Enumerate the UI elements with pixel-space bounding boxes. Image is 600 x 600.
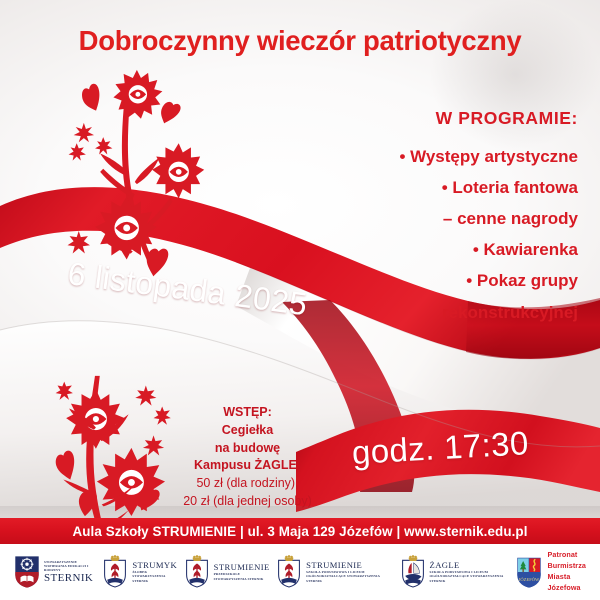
svg-text:JÓZEFÓW: JÓZEFÓW — [519, 577, 540, 582]
program-item: • Kawiarenka — [328, 238, 578, 261]
logo-sternik-name: STERNIK — [44, 573, 96, 585]
admission-price-family: 50 zł (dla rodziny), — [160, 475, 335, 493]
program-item: • Loteria fantowa — [328, 176, 578, 199]
strumyk-crest-icon — [102, 555, 128, 589]
admission-price-single: 20 zł (dla jednej osoby) — [160, 493, 335, 511]
logo-strumyk[interactable]: STRUMYK ŻŁOBEK STOWARZYSZENIA STERNIK — [102, 555, 177, 589]
footer-text: Aula Szkoły STRUMIENIE | ul. 3 Maja 129 … — [72, 524, 527, 539]
strumienie-szkola-crest-icon — [276, 555, 302, 589]
admission-section: WSTĘP: Cegiełka na budowę Kampusu ŻAGLE:… — [160, 404, 335, 511]
logo-sternik[interactable]: STOWARZYSZENIE WSPIERANIA EDUKACJI I ROD… — [14, 555, 96, 589]
logo-strumienie-przedszkole[interactable]: STRUMIENIE PRZEDSZKOLE STOWARZYSZENIA ST… — [184, 555, 270, 589]
patronage-block[interactable]: JÓZEFÓW Patronat Burmistrza Miasta Józef… — [516, 550, 586, 593]
logo-strumienie-name: STRUMIENIE — [214, 563, 270, 572]
jozefow-coat-of-arms-icon: JÓZEFÓW — [516, 555, 542, 589]
sternik-crest-icon — [14, 555, 40, 589]
program-item: – cenne nagrody — [328, 207, 578, 230]
admission-line: Cegiełka — [160, 422, 335, 440]
program-section: W PROGRAMIE: • Występy artystyczne • Lot… — [328, 108, 578, 332]
logo-strumienie-subtitle: PRZEDSZKOLE STOWARZYSZENIA STERNIK — [214, 572, 270, 581]
program-list: • Występy artystyczne • Loteria fantowa … — [328, 145, 578, 324]
program-heading: W PROGRAMIE: — [328, 108, 578, 129]
program-item: rekonstrukcyjnej — [328, 301, 578, 324]
logo-strumyk-name: STRUMYK — [132, 561, 177, 570]
logo-zagle-name: ŻAGLE — [430, 561, 517, 570]
poster-canvas: Dobroczynny wieczór patriotyczny W PROGR… — [0, 0, 600, 600]
logo-zagle-subtitle: SZKOŁA PODSTAWOWA I LICEUM OGÓLNOKSZTAŁC… — [430, 570, 517, 583]
zagle-crest-icon — [400, 555, 426, 589]
admission-line: na budowę — [160, 440, 335, 458]
patronage-line2: Miasta Józefowa — [547, 572, 586, 594]
logo-strumienie-szkola-name: STRUMIENIE — [306, 561, 393, 570]
admission-label: WSTĘP: — [160, 404, 335, 422]
strumienie-crest-icon — [184, 555, 210, 589]
logo-zagle[interactable]: ŻAGLE SZKOŁA PODSTAWOWA I LICEUM OGÓLNOK… — [400, 555, 517, 589]
program-item: • Występy artystyczne — [328, 145, 578, 168]
sponsor-logo-strip: STOWARZYSZENIE WSPIERANIA EDUKACJI I ROD… — [0, 544, 600, 600]
admission-campus: Kampusu ŻAGLE: — [160, 457, 335, 475]
logo-strumienie-szkola[interactable]: STRUMIENIE SZKOŁA PODSTAWOWA I LICEUM OG… — [276, 555, 393, 589]
logo-sternik-subtitle: STOWARZYSZENIE WSPIERANIA EDUKACJI I ROD… — [44, 560, 96, 573]
footer-bar: Aula Szkoły STRUMIENIE | ul. 3 Maja 129 … — [0, 518, 600, 544]
page-title: Dobroczynny wieczór patriotyczny — [0, 26, 600, 56]
patronage-line1: Patronat Burmistrza — [547, 550, 586, 572]
logo-strumyk-subtitle: ŻŁOBEK STOWARZYSZENIA STERNIK — [132, 570, 177, 583]
program-item: • Pokaz grupy — [328, 269, 578, 292]
logo-strumienie-szkola-subtitle: SZKOŁA PODSTAWOWA I LICEUM OGÓLNOKSZTAŁC… — [306, 570, 393, 583]
